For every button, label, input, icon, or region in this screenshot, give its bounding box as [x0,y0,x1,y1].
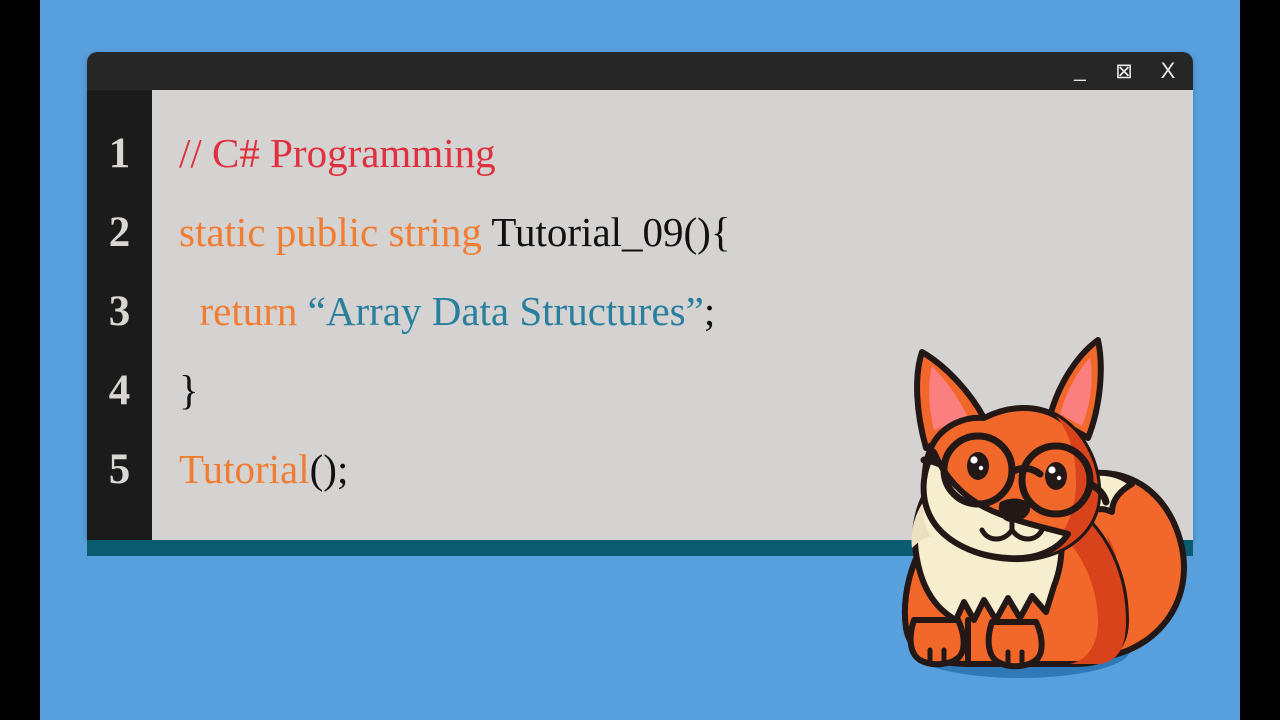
code-token: Tutorial_09(){ [491,209,730,255]
code-token: “Array Data Structures” [308,288,704,334]
line-number: 4 [87,351,152,430]
maximize-button[interactable]: ⊠ [1113,60,1135,82]
code-token: } [179,367,199,413]
code-token: return [179,288,308,334]
code-line: // C# Programming [179,114,1193,193]
close-button[interactable]: X [1157,60,1179,82]
line-number-gutter: 1 2 3 4 5 [87,90,152,540]
code-line: static public string Tutorial_09(){ [179,193,1193,272]
code-token: static public string [179,209,491,255]
line-number: 1 [87,114,152,193]
line-number: 2 [87,193,152,272]
letterbox-bar-right [1240,0,1280,720]
line-number: 5 [87,430,152,509]
letterbox-bar-left [0,0,40,720]
line-number: 3 [87,272,152,351]
code-token: (); [310,446,349,492]
slide-stage: _ ⊠ X 1 2 3 4 5 // C# Programming static… [0,0,1280,720]
code-token: Tutorial [179,446,310,492]
window-controls: _ ⊠ X [1069,52,1179,90]
code-token: // C# Programming [179,130,496,176]
code-token: ; [704,288,715,334]
window-title-bar[interactable]: _ ⊠ X [87,52,1193,90]
fox-mascot-illustration [860,320,1200,690]
minimize-button[interactable]: _ [1069,59,1091,84]
